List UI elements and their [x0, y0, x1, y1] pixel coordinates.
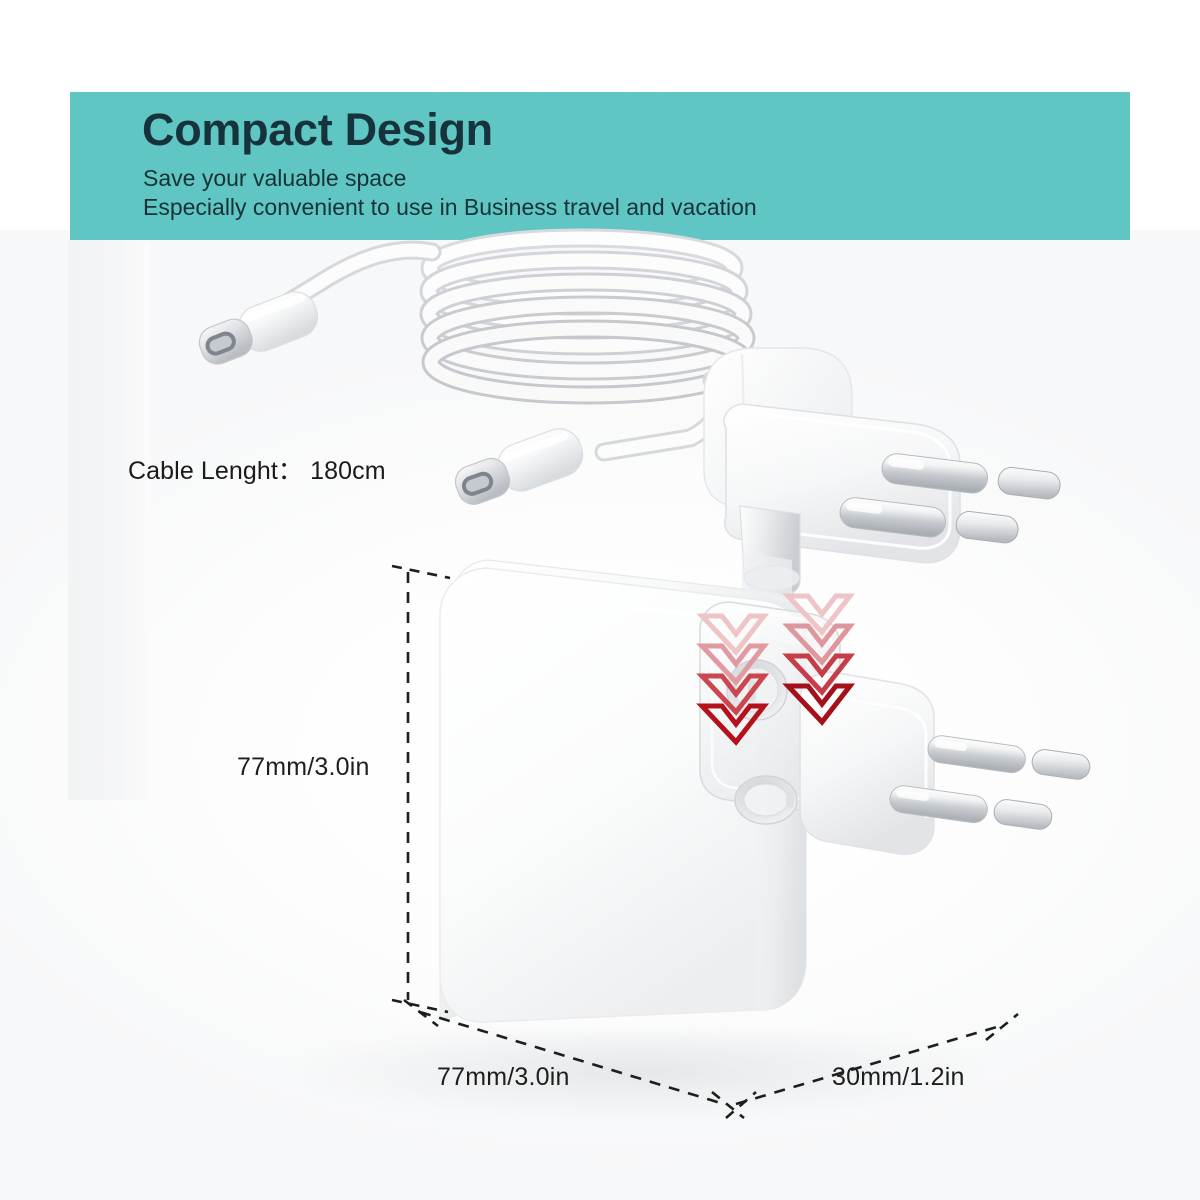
product-infographic: Compact Design Save your valuable space …: [0, 0, 1200, 1200]
dimension-width-label: 77mm/3.0in: [437, 1063, 570, 1092]
attached-plug-pin-upper: [926, 734, 1091, 781]
usbc-connector-upper: [193, 286, 323, 373]
dimension-height-label: 77mm/3.0in: [237, 753, 370, 782]
cable-length-label: Cable Lenght： 180cm: [128, 451, 386, 487]
product-artwork: [0, 0, 1200, 1200]
dimension-depth-label: 30mm/1.2in: [832, 1063, 965, 1092]
usbc-connector-lower: [449, 423, 589, 513]
